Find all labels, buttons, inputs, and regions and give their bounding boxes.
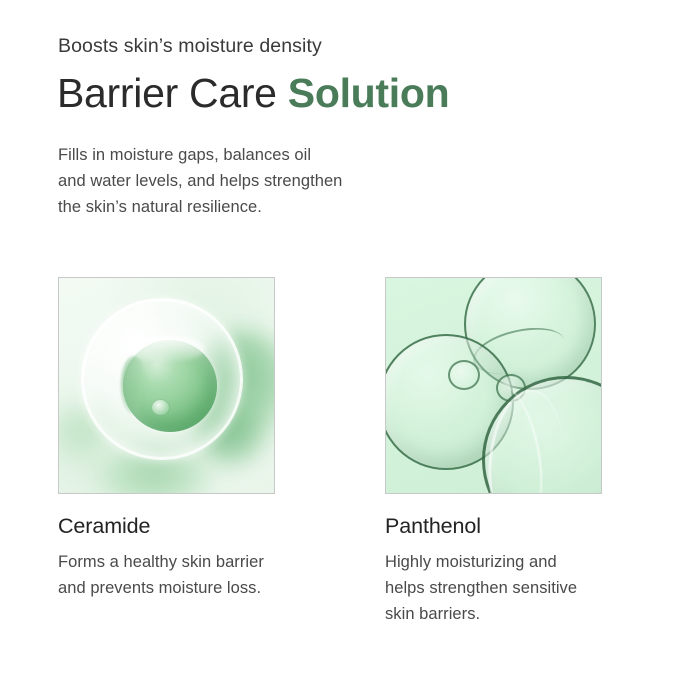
bubble-highlight <box>129 336 205 362</box>
ingredient-name-panthenol: Panthenol <box>385 514 481 539</box>
headline-main: Barrier Care <box>57 70 288 116</box>
intro-line: the skin’s natural resilience. <box>58 194 342 220</box>
description-line: and prevents moisture loss. <box>58 575 264 601</box>
intro-paragraph: Fills in moisture gaps, balances oil and… <box>58 142 342 220</box>
description-line: Highly moisturizing and <box>385 549 577 575</box>
ingredient-image-ceramide <box>58 277 275 494</box>
intro-line: Fills in moisture gaps, balances oil <box>58 142 342 168</box>
headline-accent: Solution <box>288 70 450 116</box>
description-line: skin barriers. <box>385 601 577 627</box>
sphere-shadow-crescent <box>121 356 147 414</box>
panthenol-artwork <box>386 278 601 493</box>
ingredient-description-panthenol: Highly moisturizing and helps strengthen… <box>385 549 577 627</box>
ingredient-image-panthenol <box>385 277 602 494</box>
intro-line: and water levels, and helps strengthen <box>58 168 342 194</box>
ceramide-artwork <box>59 278 274 493</box>
bubble-small <box>448 360 480 390</box>
ingredient-description-ceramide: Forms a healthy skin barrier and prevent… <box>58 549 264 601</box>
description-line: Forms a healthy skin barrier <box>58 549 264 575</box>
description-line: helps strengthen sensitive <box>385 575 577 601</box>
eyebrow-text: Boosts skin’s moisture density <box>58 35 322 58</box>
marketing-page: Boosts skin’s moisture density Barrier C… <box>0 0 679 679</box>
page-title: Barrier Care Solution <box>57 70 449 117</box>
ingredient-name-ceramide: Ceramide <box>58 514 150 539</box>
